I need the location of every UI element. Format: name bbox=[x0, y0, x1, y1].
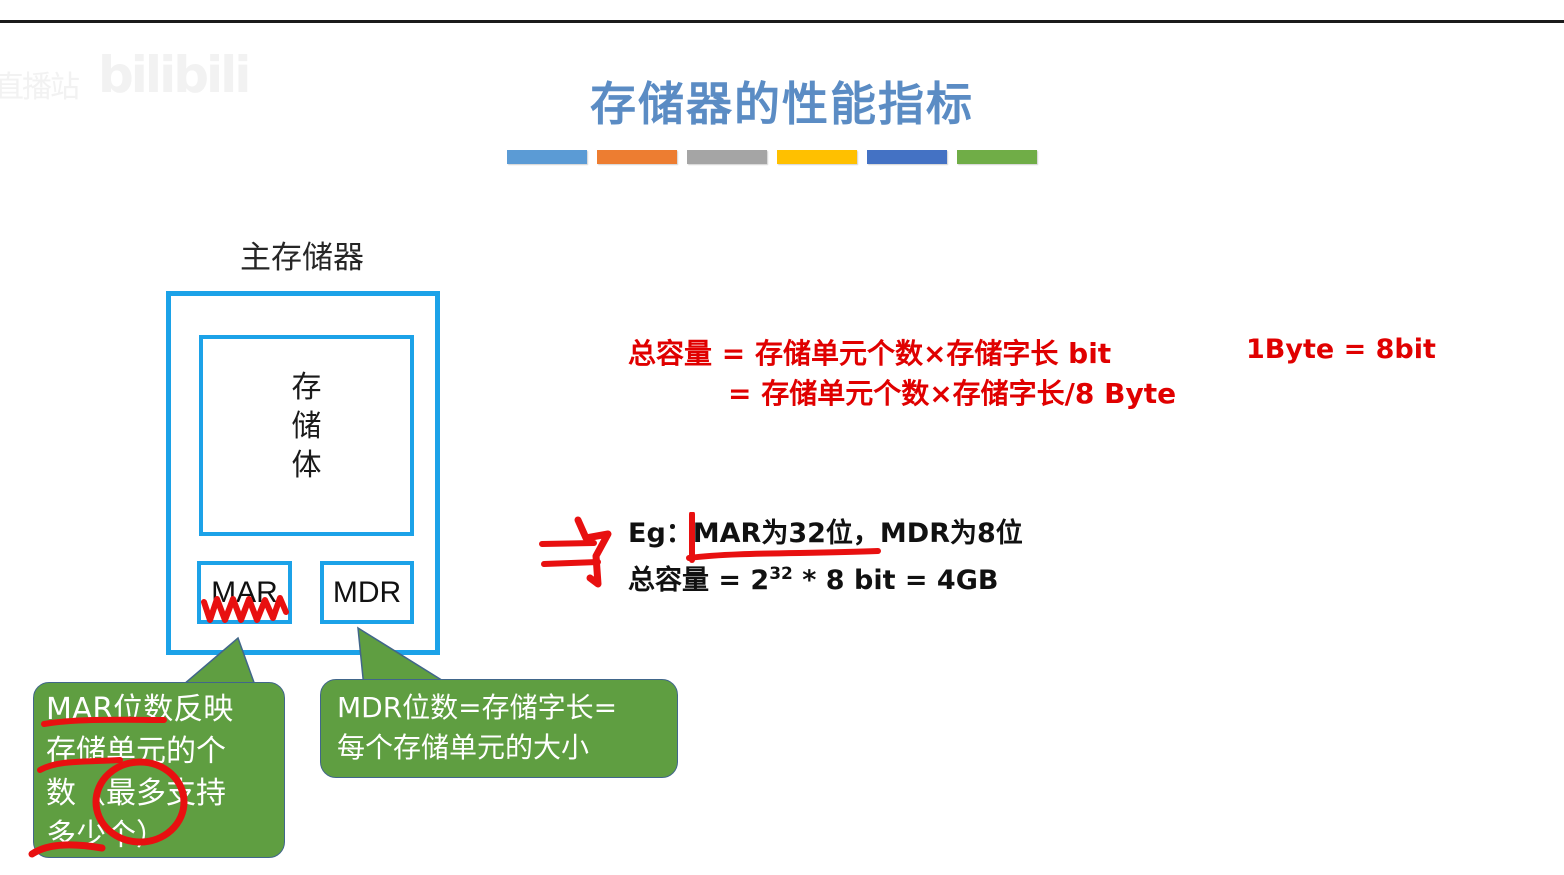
mar-callout-line-3: 数（最多支持 bbox=[46, 773, 272, 815]
top-divider-rule bbox=[0, 20, 1564, 23]
mar-callout: MAR位数反映 存储单元的个 数（最多支持 多少个） bbox=[33, 682, 285, 858]
accent-bar-1 bbox=[507, 150, 587, 164]
example-total-label: 总容量 bbox=[628, 565, 709, 596]
mar-callout-line-1: MAR位数反映 bbox=[46, 689, 272, 731]
accent-bar-group bbox=[507, 150, 1037, 164]
accent-bar-6 bbox=[957, 150, 1037, 164]
capacity-formula-line2: = 存储单元个数×存储字长/8 Byte bbox=[728, 372, 1176, 412]
accent-bar-4 bbox=[777, 150, 857, 164]
storage-body-char-1: 存 bbox=[199, 368, 414, 407]
accent-bar-5 bbox=[867, 150, 947, 164]
example-exponent: 32 bbox=[769, 564, 793, 584]
storage-body-char-2: 储 bbox=[199, 407, 414, 446]
storage-body-char-3: 体 bbox=[199, 446, 414, 485]
example-block: Eg：MAR为32位，MDR为8位 总容量 = 232 * 8 bit = 4G… bbox=[628, 514, 1023, 601]
page-title: 存储器的性能指标 bbox=[0, 68, 1564, 134]
mdr-register-box: MDR bbox=[320, 561, 414, 624]
example-line1-rest: MAR为32位，MDR为8位 bbox=[693, 518, 1023, 549]
mdr-callout-line-2: 每个存储单元的大小 bbox=[337, 728, 661, 768]
accent-bar-3 bbox=[687, 150, 767, 164]
example-tail: * 8 bit = 4GB bbox=[793, 565, 999, 596]
mar-callout-line-2: 存储单元的个 bbox=[46, 731, 272, 773]
storage-body-label: 存 储 体 bbox=[199, 368, 414, 485]
mdr-callout: MDR位数=存储字长= 每个存储单元的大小 bbox=[320, 679, 678, 778]
example-prefix: Eg： bbox=[628, 518, 693, 549]
byte-note: 1Byte = 8bit bbox=[1246, 334, 1436, 365]
slide-canvas: 直播站 bilibili 存储器的性能指标 主存储器 存 储 体 MAR MDR… bbox=[0, 0, 1564, 875]
mar-callout-line-4: 多少个） bbox=[46, 815, 272, 857]
mdr-callout-line-1: MDR位数=存储字长= bbox=[337, 688, 661, 728]
capacity-formula-line1: 总容量 = 存储单元个数×存储字长 bit bbox=[628, 332, 1111, 372]
double-arrow-pointer-icon bbox=[536, 512, 636, 602]
main-memory-label: 主存储器 bbox=[240, 232, 364, 277]
example-eq: = 2 bbox=[718, 565, 769, 596]
accent-bar-2 bbox=[597, 150, 677, 164]
example-line-2: 总容量 = 232 * 8 bit = 4GB bbox=[628, 554, 1023, 601]
mar-register-box: MAR bbox=[197, 561, 292, 624]
example-line-1: Eg：MAR为32位，MDR为8位 bbox=[628, 514, 1023, 554]
